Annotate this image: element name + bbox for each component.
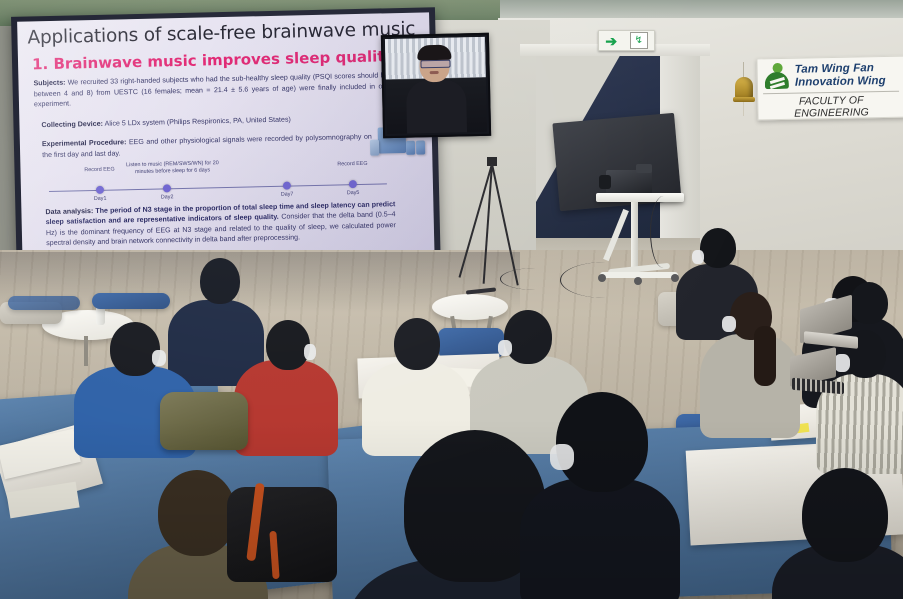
camera-lens-icon: [599, 175, 611, 189]
device-text: Alice 5 LDx system (Philips Respironics,…: [103, 116, 291, 128]
slide-subtitle: 1. Brainwave music improves sleep qualit…: [32, 47, 422, 74]
subjects-text: We recruited 33 right-handed subjects wh…: [34, 71, 389, 108]
timeline-day-label: Day1: [94, 196, 107, 202]
procedure-label: Experimental Procedure:: [42, 138, 127, 148]
presentation-slide: Applications of scale-free brainwave mus…: [17, 12, 435, 279]
lecture-room-photo: ➔ ↯ Tam Wing Fan Innovation Wing FACULTY…: [0, 0, 903, 599]
timeline-dot: [163, 184, 171, 192]
presenter-torso: [406, 79, 467, 133]
table-leg: [84, 336, 88, 366]
presenter-video-feed: [381, 33, 491, 138]
ponytail: [754, 326, 776, 386]
timeline-day-label: Day2: [161, 194, 174, 200]
running-man-icon: ↯: [630, 32, 648, 49]
timeline-caption: Listen to music (REM/SWS/WN) for 20 minu…: [124, 160, 220, 176]
person-leaf-logo-icon: [764, 63, 791, 90]
device-label: Collecting Device:: [41, 120, 103, 129]
round-table: [432, 294, 508, 320]
seat-cushion: [92, 293, 170, 309]
subjects-label: Subjects:: [33, 79, 65, 88]
wing-name: Tam Wing Fan Innovation Wing: [795, 62, 886, 89]
timeline-dot: [349, 180, 357, 188]
innovation-wing-sign: Tam Wing Fan Innovation Wing FACULTY OF …: [756, 56, 903, 121]
timeline-day-label: Day5: [347, 190, 360, 196]
seat-cushion: [8, 296, 80, 310]
glasses-icon: [420, 60, 450, 69]
camera-cart-top: [596, 193, 684, 202]
backpack: [160, 392, 248, 450]
slide-device-paragraph: Collecting Device: Alice 5 LDx system (P…: [41, 112, 391, 131]
backpack: [227, 487, 337, 582]
timeline-dot: [283, 182, 291, 190]
projection-screen: Applications of scale-free brainwave mus…: [11, 7, 441, 285]
timeline-dot: [96, 186, 104, 194]
slide-subjects-paragraph: Subjects: We recruited 33 right-handed s…: [33, 70, 389, 110]
floor-cable: [500, 268, 571, 290]
slide-title: Applications of scale-free brainwave mus…: [27, 19, 422, 49]
camera-viewfinder: [636, 164, 652, 173]
timeline-day-label: Day7: [281, 191, 294, 197]
timeline-caption: Record EEG: [73, 166, 125, 174]
exit-sign: ➔ ↯: [598, 30, 655, 51]
camera-cable: [650, 196, 677, 268]
slide-analysis-paragraph: Data analysis: The period of N3 stage in…: [45, 199, 396, 249]
analysis-label: Data analysis:: [45, 207, 93, 216]
floor-cable: [560, 262, 651, 298]
experiment-timeline: Day1 Day2 Day7 Day5 Record EEG Listen to…: [40, 161, 391, 205]
caster-wheel: [671, 274, 679, 282]
faculty-line: FACULTY OF ENGINEERING: [763, 91, 899, 121]
video-camera: [606, 170, 652, 194]
hanging-bell-icon: [728, 62, 760, 122]
slide-procedure-paragraph: Experimental Procedure: EEG and other ph…: [42, 132, 372, 161]
camera-cart-stem: [631, 202, 638, 274]
exit-arrow-icon: ➔: [605, 34, 617, 48]
